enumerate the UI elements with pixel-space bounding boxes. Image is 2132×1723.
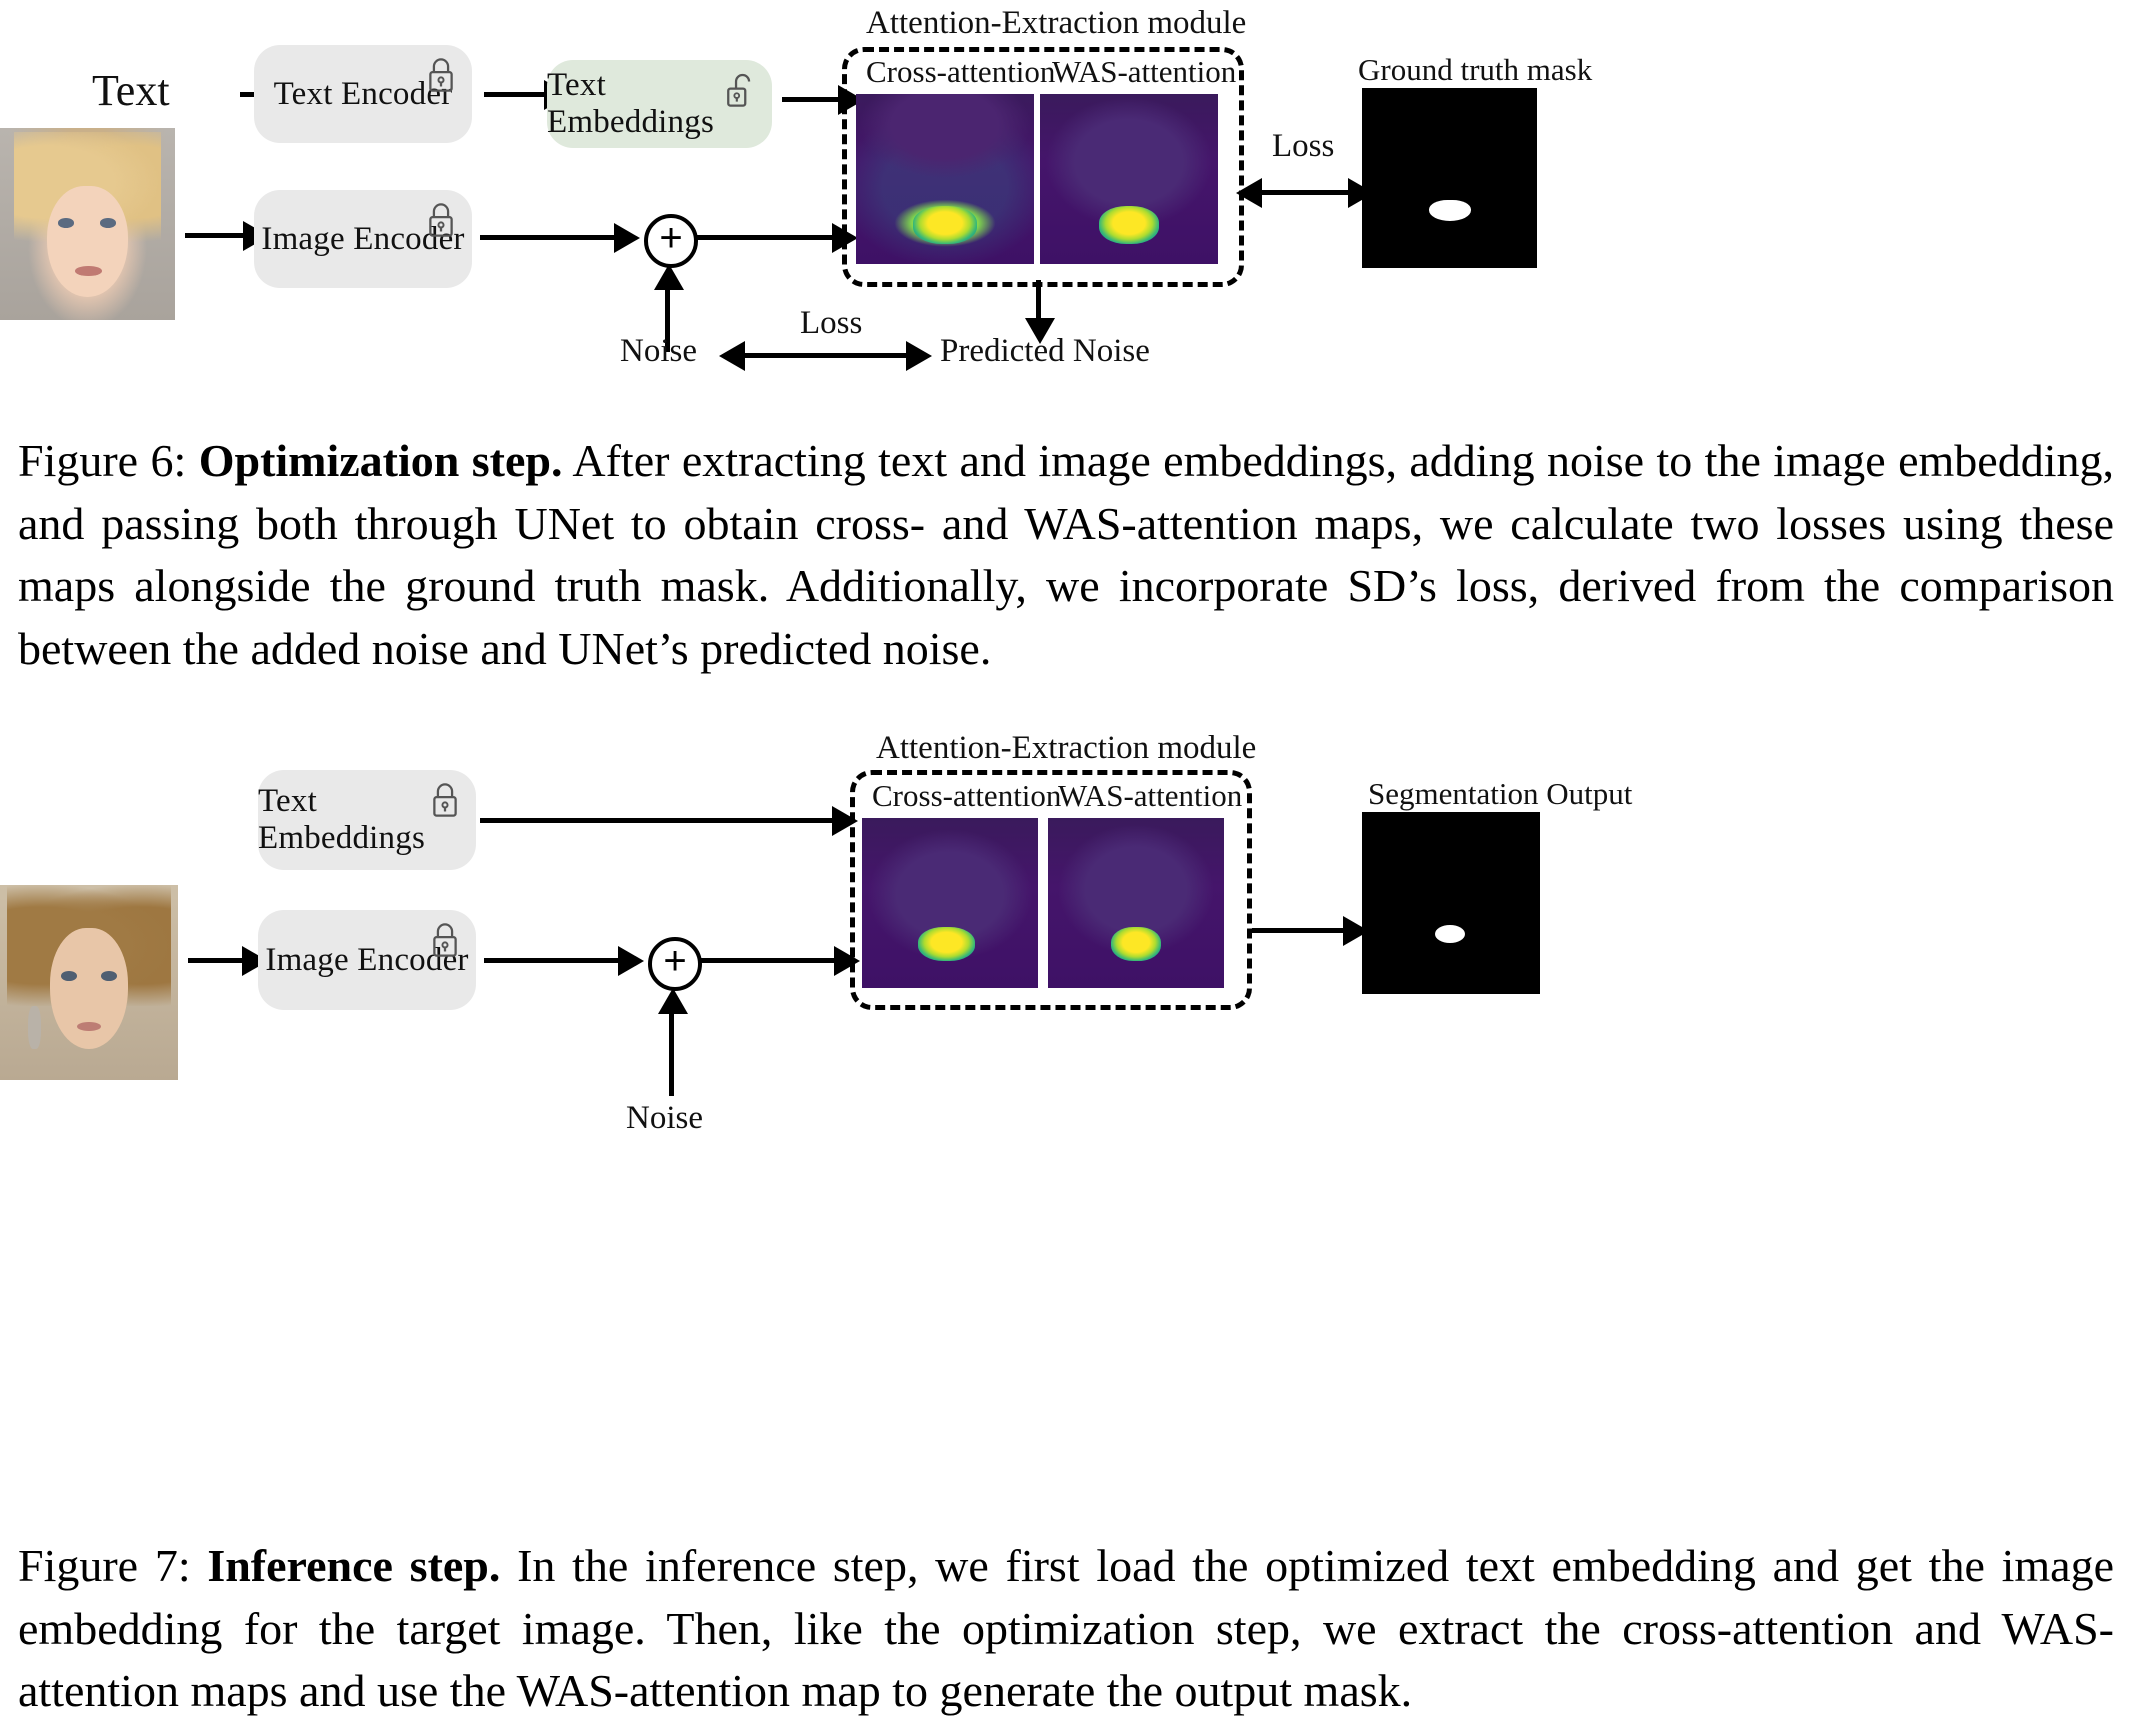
arrow-embeddings-to-module [782, 97, 840, 102]
loss-arrow-bottom [745, 353, 910, 358]
block-image-encoder-f7[interactable]: Image Encoder [258, 910, 476, 1010]
was-attention-map-f6 [1040, 94, 1218, 264]
cross-attention-map-f6 [856, 94, 1034, 264]
caption7-prefix: Figure 7: [18, 1540, 207, 1591]
was-attention-label-f6: WAS-attention [1052, 54, 1236, 90]
figure-7-caption: Figure 7: Inference step. In the inferen… [18, 1535, 2114, 1723]
mask-blob [1429, 200, 1471, 222]
input-face-photo-f7 [0, 885, 178, 1080]
segmentation-output-image [1362, 812, 1540, 994]
lock-closed-icon [428, 780, 462, 820]
segmentation-blob [1435, 925, 1465, 943]
caption6-prefix: Figure 6: [18, 435, 199, 486]
arrow-image-encoder-to-sum [480, 235, 620, 240]
was-attention-map-f7 [1048, 818, 1224, 988]
arrow-sum-to-module-f7 [700, 958, 840, 963]
caption6-title: Optimization step. [199, 435, 563, 486]
lock-open-icon [724, 70, 758, 110]
module-title-f6: Attention-Extraction module [866, 5, 1246, 42]
arrowhead-loss-bottom-left [719, 341, 745, 371]
cross-attention-label-f7: Cross-attention [872, 778, 1061, 814]
arrow-text-encoder-to-embeddings [484, 92, 546, 97]
arrowhead-loss-left [1236, 178, 1262, 208]
block-text-embeddings-f7[interactable]: Text Embeddings [258, 770, 476, 870]
arrow-sum-to-module [696, 235, 838, 240]
lock-closed-icon [428, 920, 462, 960]
arrow-photo-to-image-encoder-f7 [188, 958, 246, 963]
lock-closed-icon [424, 200, 458, 240]
arrowhead-loss-bottom-right [906, 341, 932, 371]
figure-6-caption: Figure 6: Optimization step. After extra… [18, 430, 2114, 680]
block-text-embeddings[interactable]: Text Embeddings [547, 60, 772, 148]
block-image-encoder[interactable]: Image Encoder [254, 190, 472, 288]
cross-attention-map-f7 [862, 818, 1038, 988]
plus-symbol-f7: + [663, 941, 686, 981]
arrow-photo-to-image-encoder [185, 233, 245, 238]
sum-node-f7: + [648, 937, 702, 991]
input-face-photo [0, 128, 175, 320]
block-text-encoder[interactable]: Text Encoder [254, 45, 472, 143]
predicted-noise-label: Predicted Noise [940, 333, 1150, 370]
arrowhead-noise-to-sum [654, 264, 684, 290]
ground-truth-mask-label: Ground truth mask [1358, 52, 1592, 88]
arrow-module-to-segmentation [1252, 928, 1347, 933]
loss-label-right-f6: Loss [1272, 128, 1334, 165]
was-attention-label-f7: WAS-attention [1058, 778, 1242, 814]
arrowhead-image-encoder-to-sum [614, 223, 640, 253]
figure-7-diagram: Text Embeddings Image Encoder + [0, 700, 2132, 1500]
figure-6-diagram: Text Text Encoder Text Embeddings [0, 0, 2132, 430]
loss-label-bottom-f6: Loss [800, 305, 862, 342]
loss-arrow-to-mask [1262, 190, 1352, 195]
arrow-text-embeddings-to-module-f7 [480, 818, 835, 823]
ground-truth-mask-image [1362, 88, 1537, 268]
cross-attention-label-f6: Cross-attention [866, 54, 1055, 90]
sum-node: + [644, 214, 698, 268]
arrowhead-noise-to-sum-f7 [658, 988, 688, 1014]
plus-symbol: + [659, 218, 682, 258]
segmentation-output-label: Segmentation Output [1368, 776, 1632, 812]
module-title-f7: Attention-Extraction module [876, 730, 1256, 767]
arrowhead-image-encoder-to-sum-f7 [618, 946, 644, 976]
noise-label-f7: Noise [626, 1100, 703, 1137]
lock-closed-icon [424, 55, 458, 95]
caption7-title: Inference step. [207, 1540, 500, 1591]
noise-label-f6: Noise [620, 333, 697, 370]
arrow-image-encoder-to-sum-f7 [484, 958, 624, 963]
text-input-label: Text [92, 65, 170, 116]
